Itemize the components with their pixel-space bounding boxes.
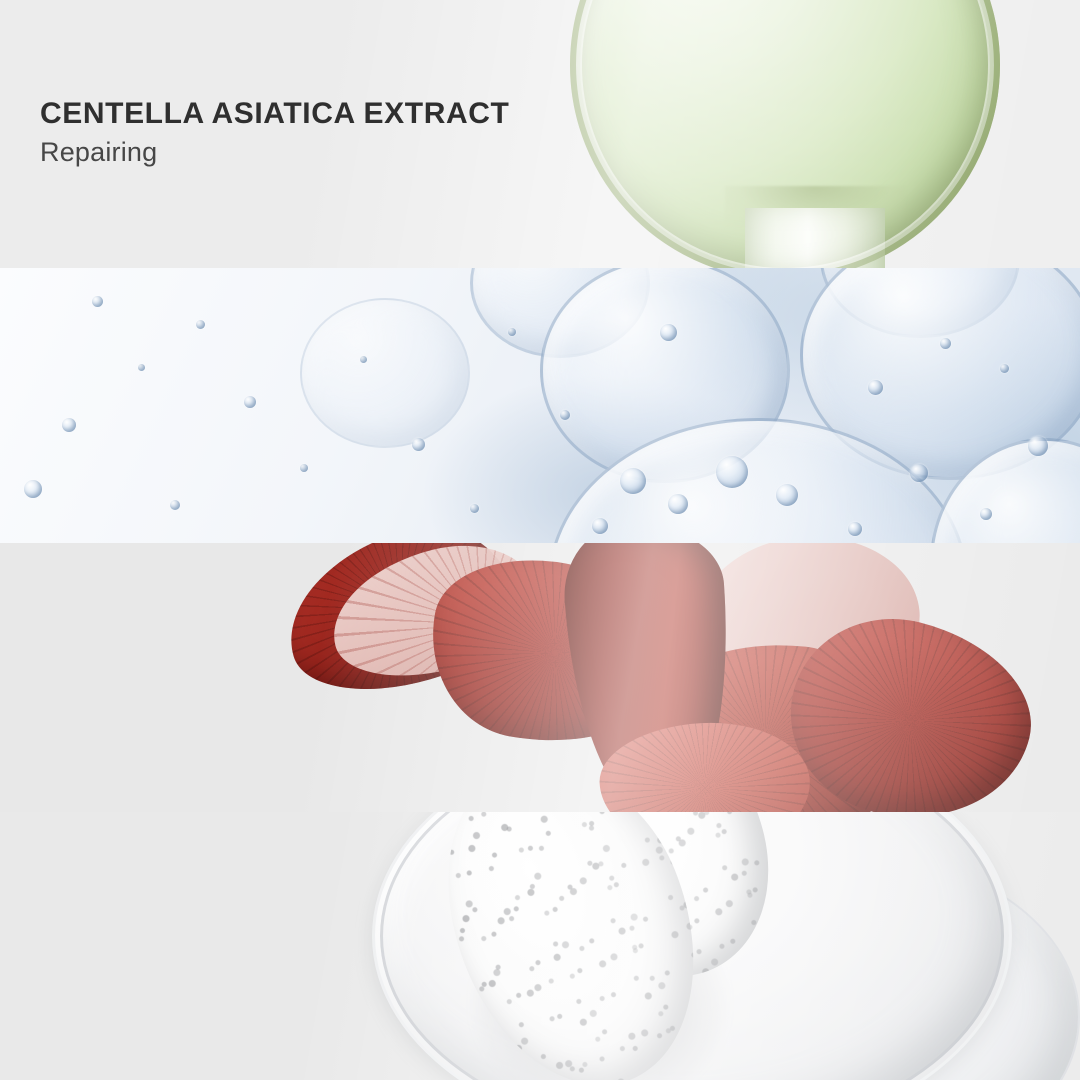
glass-dish-rim (372, 812, 1012, 1080)
centella-sphere-image (540, 0, 1080, 268)
gel-microbubble-icon (868, 380, 883, 395)
gel-microbubble-icon (24, 480, 42, 498)
gel-microbubble-icon (470, 504, 479, 513)
ingredient-band-red-algae: RED ALGAE Calming (0, 543, 1080, 812)
gel-microbubble-icon (848, 522, 862, 536)
gel-microbubble-icon (1000, 364, 1009, 373)
gel-microbubble-icon (940, 338, 951, 349)
gel-bubble-cluster (0, 268, 1080, 543)
gel-microbubble-icon (620, 468, 646, 494)
ingredient-label-centella: CENTELLA ASIATICA EXTRACT Repairing (40, 98, 509, 168)
gel-microbubble-icon (668, 494, 688, 514)
hyaluronic-gel-image (0, 268, 1080, 543)
gel-microbubble-icon (980, 508, 992, 520)
gel-microbubble-icon (360, 356, 367, 363)
gel-microbubble-icon (412, 438, 425, 451)
red-algae-image (0, 543, 1080, 812)
gel-microbubble-icon (560, 410, 570, 420)
ingredient-band-hyaluronic-acid: HYALURONIC ACID Hydrating (0, 268, 1080, 543)
gel-microbubble-icon (62, 418, 76, 432)
gel-microbubble-icon (592, 518, 608, 534)
gel-microbubble-icon (716, 456, 748, 488)
gel-microbubble-icon (92, 296, 103, 307)
gel-microbubble-icon (910, 464, 928, 482)
gel-microbubble-icon (244, 396, 256, 408)
gel-microbubble-icon (1028, 436, 1048, 456)
ingredient-poster: CENTELLA ASIATICA EXTRACT Repairing (0, 0, 1080, 1080)
cm-glucan-powder-image (0, 812, 1080, 1080)
sphere-inner-rim (580, 0, 990, 268)
gel-microbubble-icon (300, 464, 308, 472)
ingredient-band-centella: CENTELLA ASIATICA EXTRACT Repairing (0, 0, 1080, 268)
gel-microbubble-icon (196, 320, 205, 329)
gel-microbubble-icon (138, 364, 145, 371)
gel-microbubble-icon (776, 484, 798, 506)
gel-microbubble-icon (170, 500, 180, 510)
gel-microbubble-icon (660, 324, 677, 341)
ingredient-benefit: Repairing (40, 137, 509, 168)
gel-cell-icon (300, 298, 470, 448)
ingredient-band-cm-glucan: + CM-GLUCAN Restoring (0, 812, 1080, 1080)
ingredient-name: CENTELLA ASIATICA EXTRACT (40, 98, 509, 130)
gel-microbubble-icon (508, 328, 516, 336)
